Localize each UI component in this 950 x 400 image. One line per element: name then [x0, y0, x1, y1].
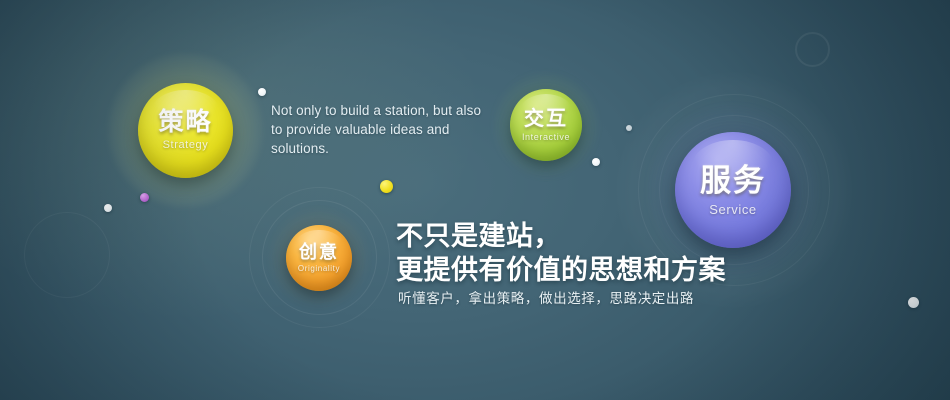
english-tagline-line1: Not only to build a station, but also	[271, 101, 511, 120]
sphere-interactive[interactable]: 交互 Interactive	[510, 89, 582, 161]
sphere-strategy[interactable]: 策略 Strategy	[138, 83, 233, 178]
sphere-originality-en-label: Originality	[298, 265, 340, 273]
sphere-interactive-en-label: Interactive	[522, 133, 570, 142]
sphere-service-cn-label: 服务	[700, 165, 766, 196]
decor-dot-yellow	[380, 180, 393, 193]
sphere-service-en-label: Service	[709, 203, 757, 216]
decor-dot-white-5	[626, 125, 632, 131]
headline: 不只是建站， 更提供有价值的思想和方案	[396, 219, 726, 287]
sphere-originality-cn-label: 创意	[299, 243, 339, 261]
decor-dot-white-3	[592, 158, 600, 166]
english-tagline: Not only to build a station, but also to…	[271, 101, 511, 158]
english-tagline-line2: to provide valuable ideas and solutions.	[271, 120, 511, 158]
decor-ring-left	[24, 212, 110, 298]
headline-line1: 不只是建站，	[396, 219, 726, 253]
sphere-strategy-en-label: Strategy	[163, 140, 209, 151]
decor-dot-white-2	[104, 204, 112, 212]
sphere-interactive-cn-label: 交互	[524, 109, 568, 129]
sphere-originality[interactable]: 创意 Originality	[286, 225, 352, 291]
subheadline: 听懂客户，拿出策略，做出选择，思路决定出路	[398, 287, 694, 307]
decor-dot-purple	[140, 193, 149, 202]
decor-ring-top-right	[795, 32, 830, 67]
sphere-strategy-cn-label: 策略	[158, 110, 212, 135]
vignette-overlay	[0, 0, 950, 400]
headline-line2: 更提供有价值的思想和方案	[396, 253, 726, 287]
hero-banner: 策略 Strategy 交互 Interactive 创意 Originalit…	[0, 0, 950, 400]
ambient-glow	[0, 0, 950, 400]
decor-dot-white-1	[258, 88, 266, 96]
decor-dot-white-4	[908, 297, 919, 308]
